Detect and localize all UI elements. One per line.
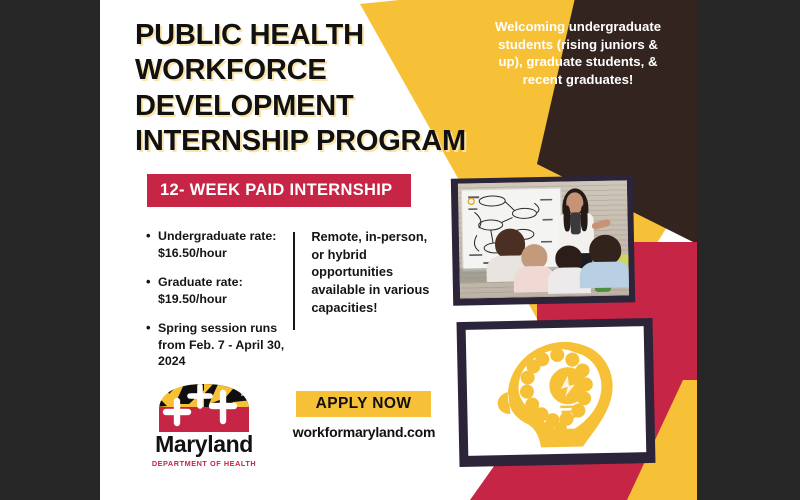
rates-bullet-list: Undergraduate rate: $16.50/hour Graduate…	[144, 228, 285, 383]
list-item: Undergraduate rate: $16.50/hour	[158, 228, 285, 261]
title-line-2: WORKFORCE	[135, 53, 465, 88]
screenshot-canvas: PUBLIC HEALTH WORKFORCE DEVELOPMENT INTE…	[0, 0, 800, 500]
details-section: Undergraduate rate: $16.50/hour Graduate…	[144, 228, 434, 383]
logo-subtitle: DEPARTMENT OF HEALTH	[142, 459, 266, 468]
paid-internship-badge-label: 12- WEEK PAID INTERNSHIP	[160, 181, 392, 200]
vertical-divider	[293, 232, 295, 330]
paid-internship-badge: 12- WEEK PAID INTERNSHIP	[147, 174, 411, 207]
presenter-scarf	[570, 212, 580, 234]
title-line-4: INTERNSHIP PROGRAM	[135, 124, 465, 159]
seated-attendee	[521, 244, 548, 292]
list-item: Spring session runs from Feb. 7 - April …	[158, 320, 285, 370]
logo-wordmark: Maryland	[142, 431, 266, 458]
maryland-department-of-health-logo: Maryland DEPARTMENT OF HEALTH	[142, 382, 266, 468]
opportunity-modes-note: Remote, in-person, or hybrid opportuniti…	[311, 228, 434, 383]
head-brain-lightbulb-illustration	[457, 318, 656, 467]
page-title: PUBLIC HEALTH WORKFORCE DEVELOPMENT INTE…	[135, 18, 465, 160]
seated-attendee	[589, 235, 622, 289]
presenter-hair-strand	[580, 205, 587, 231]
seated-attendee	[555, 245, 583, 294]
list-item: Graduate rate: $19.50/hour	[158, 274, 285, 307]
maryland-flag-dome-icon	[155, 382, 253, 432]
eligibility-callout: Welcoming undergraduate students (rising…	[492, 18, 664, 88]
classroom-presentation-photo	[451, 175, 635, 305]
apply-now-label: APPLY NOW	[316, 395, 412, 413]
flyer-poster: PUBLIC HEALTH WORKFORCE DEVELOPMENT INTE…	[100, 0, 697, 500]
brain-lightbulb-icon	[485, 330, 627, 453]
title-line-3: DEVELOPMENT	[135, 89, 465, 124]
title-line-1: PUBLIC HEALTH	[135, 18, 465, 53]
website-link[interactable]: workformaryland.com	[278, 424, 450, 440]
apply-now-button[interactable]: APPLY NOW	[296, 391, 431, 417]
